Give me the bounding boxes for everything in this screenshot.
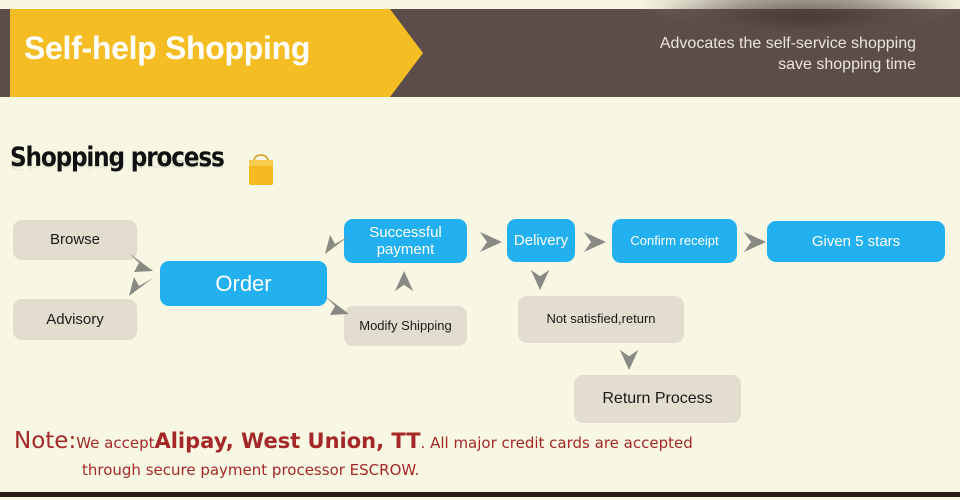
flow-arrow-order-to-modify [324, 293, 350, 319]
flow-node-modify-shipping[interactable]: Modify Shipping [344, 306, 467, 346]
header-arrow-tip [390, 9, 423, 97]
flow-arrow-advisory-to-order [128, 275, 154, 301]
flow-node-return-process[interactable]: Return Process [574, 375, 741, 423]
note-label: Note: [14, 428, 76, 454]
section-title: Shopping process [10, 142, 224, 173]
flow-node-order[interactable]: Order [160, 261, 327, 306]
flow-arrow-successful-to-delivery [478, 230, 504, 256]
note-tail: . All major credit cards are accepted [421, 434, 693, 452]
flow-arrow-confirm-to-given-stars [742, 230, 768, 256]
page-title: Self-help Shopping [24, 30, 310, 67]
shopping-bag-icon [244, 148, 278, 193]
flow-node-successful-payment[interactable]: Successful payment [344, 219, 467, 263]
flow-node-not-satisfied[interactable]: Not satisfied,return [518, 296, 684, 343]
note-we-accept: We accept [76, 434, 154, 452]
note-payment-methods: Alipay, West Union, TT [154, 429, 420, 453]
flow-node-browse[interactable]: Browse [13, 220, 137, 260]
flow-arrow-not-satisfied-to-return [618, 348, 642, 372]
bottom-divider [0, 492, 960, 497]
flow-node-advisory[interactable]: Advisory [13, 299, 137, 340]
flow-node-confirm-receipt[interactable]: Confirm receipt [612, 219, 737, 263]
payment-note-line-1: Note:We acceptAlipay, West Union, TT. Al… [14, 428, 934, 454]
flow-arrow-delivery-to-not-satisfied [529, 268, 553, 292]
flow-arrow-order-to-successful [324, 233, 350, 259]
flow-node-delivery[interactable]: Delivery [507, 219, 575, 262]
flow-arrow-browse-to-order [128, 250, 154, 276]
flow-arrow-delivery-to-confirm [582, 230, 608, 256]
section-title-block: Shopping process Shopping process [10, 142, 258, 190]
slide-canvas: Self-help Shopping Advocates the self-se… [0, 0, 960, 500]
payment-note: Note:We acceptAlipay, West Union, TT. Al… [14, 428, 934, 479]
flow-node-given-5-stars[interactable]: Given 5 stars [767, 221, 945, 262]
header-tagline: Advocates the self-service shopping save… [660, 33, 916, 75]
flow-arrow-modify-to-successful [393, 271, 417, 295]
payment-note-line-2: through secure payment processor ESCROW. [82, 461, 934, 479]
